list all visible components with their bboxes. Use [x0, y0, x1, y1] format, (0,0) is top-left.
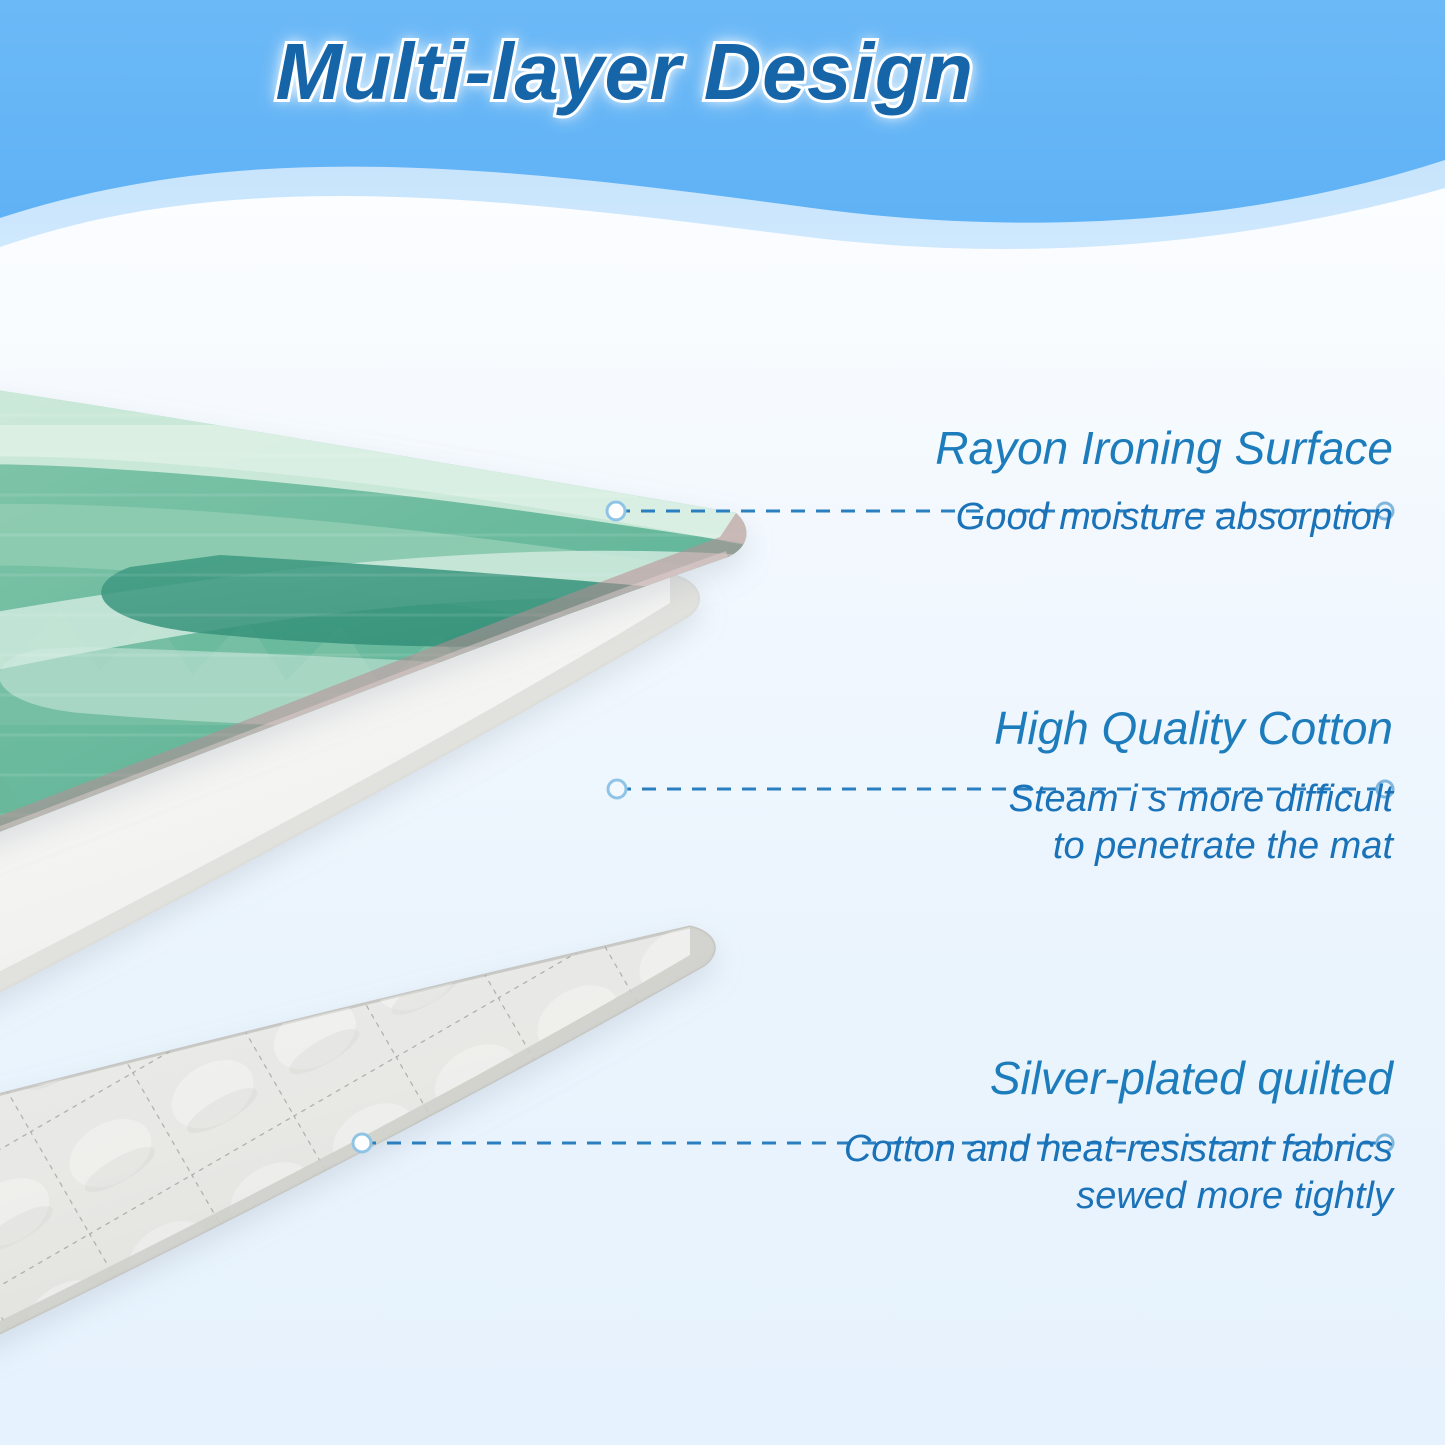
callout-description: Good moisture absorption — [753, 494, 1393, 541]
callout-description: Steam i s more difficult to penetrate th… — [753, 776, 1393, 870]
callout-heading: Rayon Ironing Surface — [753, 424, 1393, 474]
callout-heading: High Quality Cotton — [753, 704, 1393, 754]
callout-description-line: to penetrate the mat — [753, 823, 1393, 870]
callout-silver-plated-quilted: Silver-plated quilted Cotton and heat-re… — [693, 1054, 1393, 1220]
infographic-canvas: Multi-layer Design — [0, 0, 1445, 1445]
callout-description-line: Cotton and heat-resistant fabrics — [693, 1126, 1393, 1173]
callout-description-line: Good moisture absorption — [753, 494, 1393, 541]
callout-description: Cotton and heat-resistant fabrics sewed … — [693, 1126, 1393, 1220]
leader-dot-icon-3 — [353, 1134, 371, 1152]
callout-heading: Silver-plated quilted — [693, 1054, 1393, 1104]
callout-rayon-ironing-surface: Rayon Ironing Surface Good moisture abso… — [753, 424, 1393, 541]
callout-description-line: Steam i s more difficult — [753, 776, 1393, 823]
leader-dot-icon-2 — [608, 780, 626, 798]
callout-high-quality-cotton: High Quality Cotton Steam i s more diffi… — [753, 704, 1393, 870]
leader-dot-icon-1 — [607, 502, 625, 520]
callout-description-line: sewed more tightly — [693, 1173, 1393, 1220]
